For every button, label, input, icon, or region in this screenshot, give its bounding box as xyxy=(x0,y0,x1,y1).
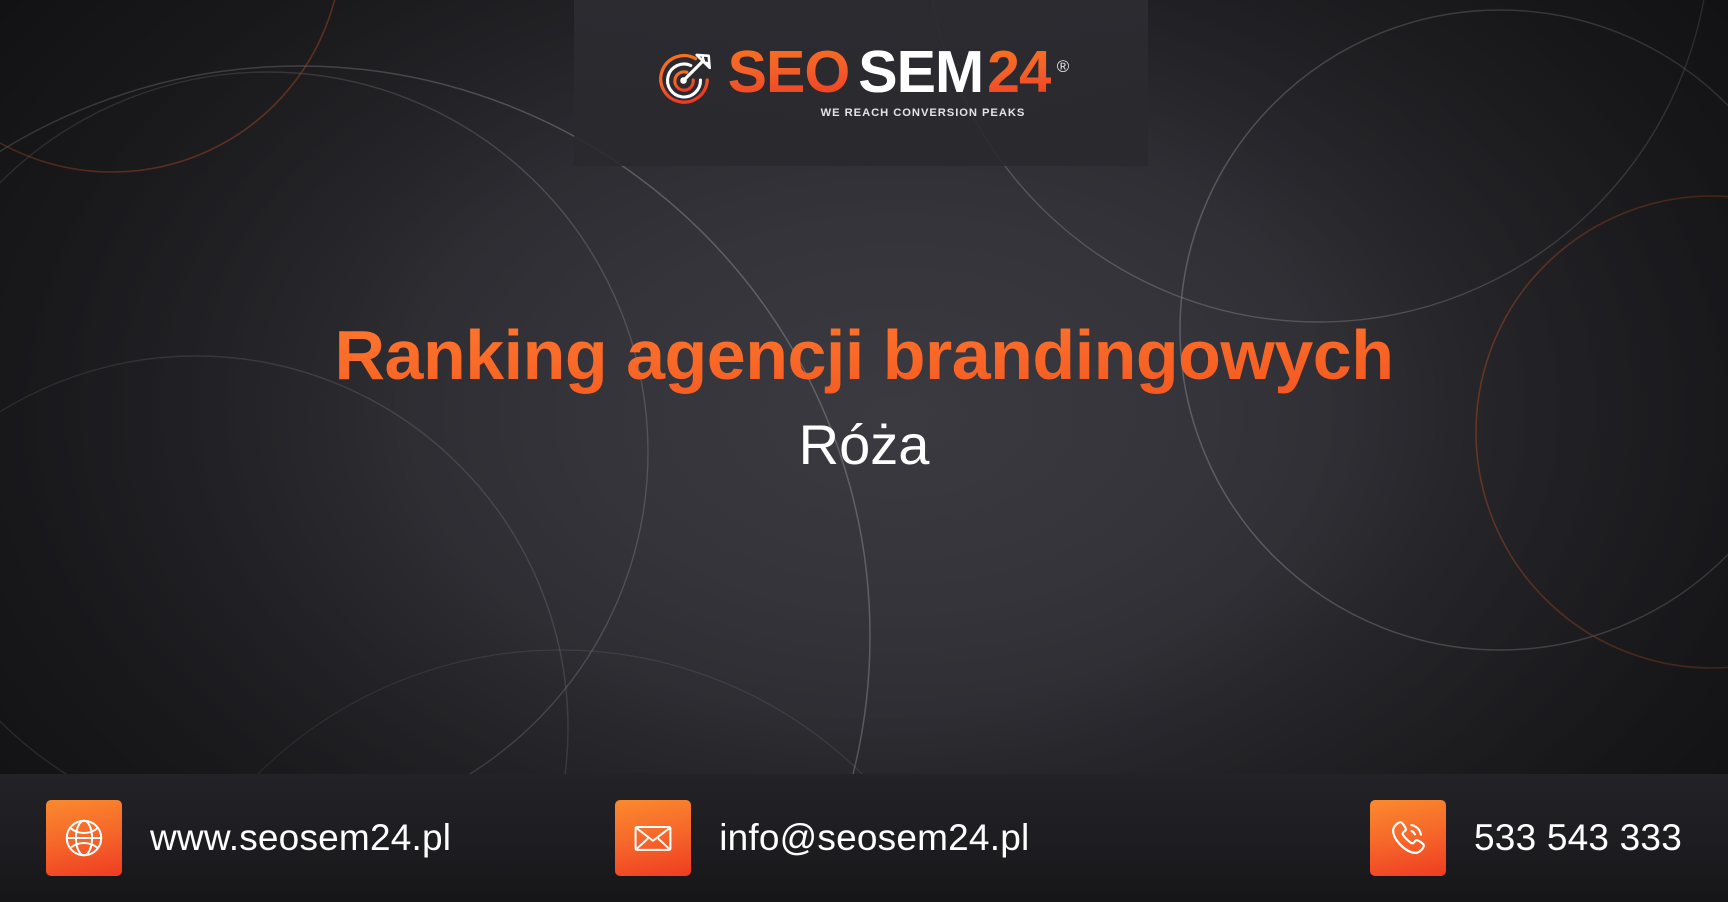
banner-stage: SEO SEM 24 ® WE REACH CONVERSION PEAKS R… xyxy=(0,0,1728,902)
phone-call-icon xyxy=(1370,800,1446,876)
logo-word-seo: SEO xyxy=(728,43,850,102)
page-subtitle: Róża xyxy=(60,414,1668,476)
hero-text-block: Ranking agencji brandingowych Róża xyxy=(0,318,1728,475)
contact-phone-label: 533 543 333 xyxy=(1474,817,1682,859)
deco-circle-orange-topleft xyxy=(0,0,342,172)
logo-word-sem: SEM xyxy=(858,43,983,102)
target-arrow-icon xyxy=(653,50,715,112)
brand-wordmark: SEO SEM 24 ® WE REACH CONVERSION PEAKS xyxy=(728,43,1070,119)
brand-logo-plate: SEO SEM 24 ® WE REACH CONVERSION PEAKS xyxy=(574,0,1148,166)
globe-icon xyxy=(46,800,122,876)
contact-website[interactable]: www.seosem24.pl xyxy=(46,800,451,876)
envelope-icon xyxy=(615,800,691,876)
contact-footer-bar: www.seosem24.pl info@seosem24.pl xyxy=(0,774,1728,902)
contact-email[interactable]: info@seosem24.pl xyxy=(615,800,1029,876)
contact-email-label: info@seosem24.pl xyxy=(719,817,1029,859)
page-title: Ranking agencji brandingowych xyxy=(60,318,1668,394)
brand-tagline: WE REACH CONVERSION PEAKS xyxy=(728,107,1070,119)
contact-website-label: www.seosem24.pl xyxy=(150,817,451,859)
contact-phone[interactable]: 533 543 333 xyxy=(1370,800,1682,876)
registered-mark-icon: ® xyxy=(1057,58,1070,75)
brand-logo-lockup: SEO SEM 24 ® WE REACH CONVERSION PEAKS xyxy=(653,43,1070,119)
logo-word-24: 24 xyxy=(987,43,1051,102)
